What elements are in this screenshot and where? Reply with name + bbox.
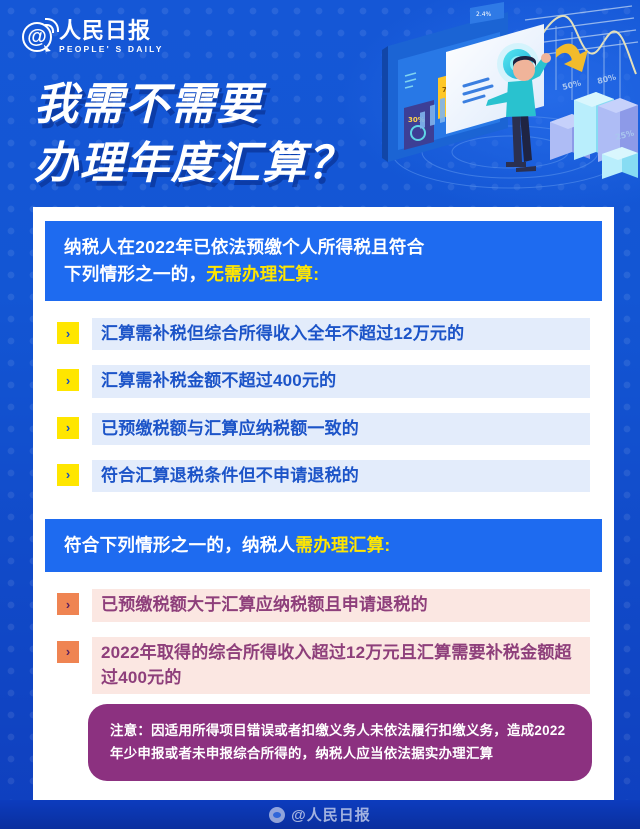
chevron-right-icon: › [57, 417, 79, 439]
section-heading-highlight: 需办理汇算: [295, 535, 390, 555]
list-item-label: 符合汇算退税条件但不申请退税的 [92, 460, 590, 492]
at-symbol-icon: @ [22, 22, 52, 52]
list-item: › 已预缴税额与汇算应纳税额一致的 [57, 408, 590, 450]
brand-name-cn: 人民日报 [59, 20, 164, 42]
list-item: › 符合汇算退税条件但不申请退税的 [57, 455, 590, 497]
section-heading-plain: 符合下列情形之一的，纳税人 [64, 535, 295, 555]
list-item: › 汇算需补税但综合所得收入全年不超过12万元的 [57, 313, 590, 355]
data-dashboard-illustration: 30% 75% 2.4% [360, 2, 640, 207]
page-title: 我需不需要 办理年度汇算？ [34, 76, 353, 194]
chevron-right-icon: › [57, 464, 79, 486]
note-text: 注意：因适用所得项目错误或者扣缴义务人未依法履行扣缴义务，造成2022年少申报或… [110, 719, 570, 765]
section-heading-line-2: 下列情形之一的，无需办理汇算: [64, 261, 583, 288]
section-heading-need-settlement: 符合下列情形之一的，纳税人需办理汇算: [45, 519, 602, 573]
list-no-settlement: › 汇算需补税但综合所得收入全年不超过12万元的 › 汇算需补税金额不超过400… [57, 313, 590, 497]
section-heading-plain: 下列情形之一的， [64, 264, 206, 284]
list-item-label: 汇算需补税但综合所得收入全年不超过12万元的 [92, 318, 590, 350]
page-title-line-1: 我需不需要 [34, 76, 353, 135]
list-item-label: 汇算需补税金额不超过400元的 [92, 365, 590, 397]
section-heading-line-1: 符合下列情形之一的，纳税人需办理汇算: [64, 532, 583, 559]
signal-wave-icon [45, 18, 59, 32]
publisher-logo: @ 人民日报 PEOPLE' S DAILY [22, 20, 164, 54]
list-need-settlement: › 已预缴税额大于汇算应纳税额且申请退税的 › 2022年取得的综合所得收入超过… [57, 584, 590, 698]
list-item-label: 2022年取得的综合所得收入超过12万元且汇算需要补税金额超过400元的 [92, 637, 590, 694]
chevron-right-icon: › [57, 369, 79, 391]
page-title-line-2: 办理年度汇算？ [34, 135, 353, 194]
content-card: 纳税人在2022年已依法预缴个人所得税且符合 下列情形之一的，无需办理汇算: ›… [33, 207, 614, 801]
chevron-right-icon: › [57, 641, 79, 663]
brand-text: 人民日报 PEOPLE' S DAILY [59, 20, 164, 54]
footer-handle: @人民日报 [291, 804, 371, 825]
section-heading-highlight: 无需办理汇算: [206, 264, 319, 284]
list-item-label: 已预缴税额与汇算应纳税额一致的 [92, 413, 590, 445]
list-item: › 2022年取得的综合所得收入超过12万元且汇算需要补税金额超过400元的 [57, 632, 590, 699]
at-glyph: @ [27, 27, 47, 47]
svg-text:2.4%: 2.4% [476, 11, 492, 18]
section-heading-line-1: 纳税人在2022年已依法预缴个人所得税且符合 [64, 234, 583, 261]
list-item: › 汇算需补税金额不超过400元的 [57, 360, 590, 402]
chevron-right-icon: › [57, 593, 79, 615]
list-item-label: 已预缴税额大于汇算应纳税额且申请退税的 [92, 589, 590, 621]
svg-text:80%: 80% [596, 73, 617, 86]
note-box: 注意：因适用所得项目错误或者扣缴义务人未依法履行扣缴义务，造成2022年少申报或… [88, 704, 592, 781]
brand-name-en: PEOPLE' S DAILY [59, 45, 164, 54]
list-item: › 已预缴税额大于汇算应纳税额且申请退税的 [57, 584, 590, 626]
footer-watermark: @人民日报 [0, 800, 640, 829]
chevron-right-icon: › [57, 322, 79, 344]
section-heading-no-settlement: 纳税人在2022年已依法预缴个人所得税且符合 下列情形之一的，无需办理汇算: [45, 221, 602, 301]
weibo-icon [269, 807, 285, 823]
